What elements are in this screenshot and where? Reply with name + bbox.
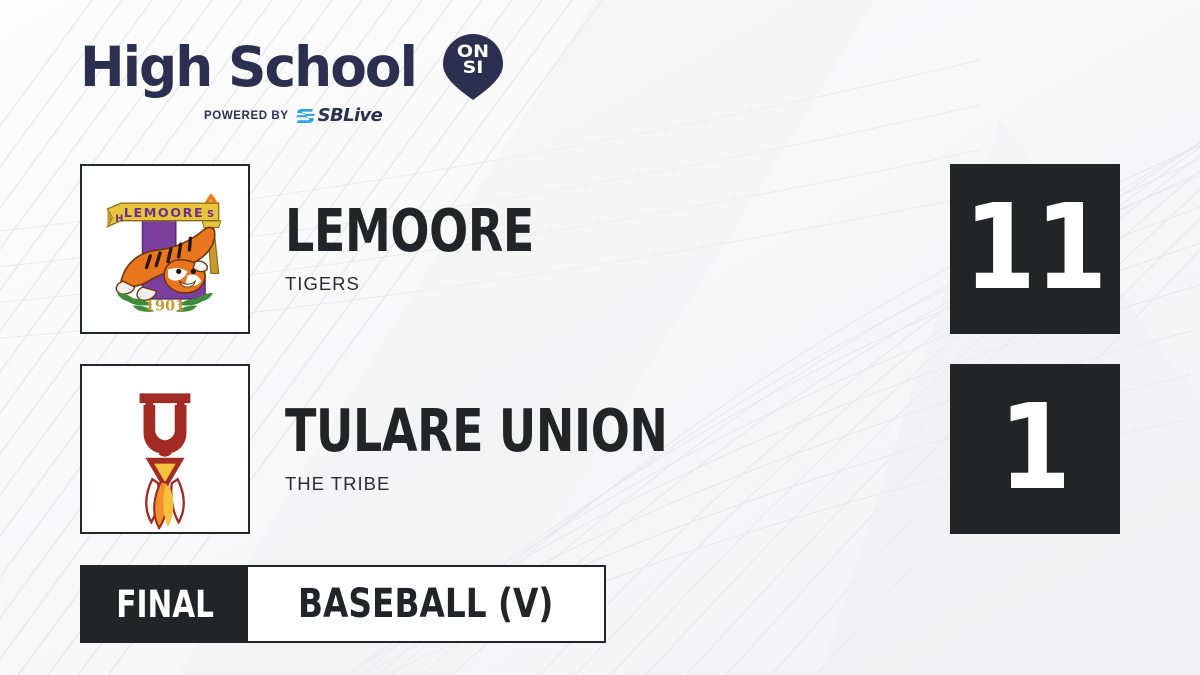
- brand-lockup: High School ON SI POWERED BY SBLive: [80, 33, 504, 125]
- team-score-box-lemoore: 11: [950, 164, 1120, 334]
- status-badge: FINAL: [82, 567, 248, 641]
- sblive-logo: SBLive: [296, 107, 383, 125]
- team-score-box-tulare-union: 1: [950, 364, 1120, 534]
- powered-by-label: POWERED BY: [204, 110, 289, 122]
- lemoore-tigers-logo-icon: LEMOORE H S: [82, 166, 248, 332]
- on-si-pin-label: ON SI: [439, 44, 508, 76]
- game-status-bar: FINAL BASEBALL (V): [80, 565, 606, 643]
- team-mascot: THE TRIBE: [285, 473, 775, 495]
- team-info-tulare-union: TULARE UNION THE TRIBE: [285, 364, 775, 534]
- status-badge-label: FINAL: [116, 586, 214, 623]
- page-title: High School: [80, 40, 416, 95]
- sport-label-box: BASEBALL (V): [248, 567, 603, 641]
- team-name: TULARE UNION: [285, 403, 668, 460]
- tulare-union-tribe-logo-icon: [82, 366, 248, 532]
- svg-text:1901: 1901: [145, 298, 186, 315]
- team-score: 11: [964, 188, 1107, 306]
- svg-text:H: H: [115, 214, 123, 225]
- team-logo-box-lemoore: LEMOORE H S: [80, 164, 250, 334]
- team-logo-box-tulare-union: [80, 364, 250, 534]
- scoreboard-graphic: High School ON SI POWERED BY SBLive: [0, 0, 1200, 675]
- sblive-s-icon: [296, 108, 315, 124]
- team-score: 1: [999, 388, 1070, 506]
- svg-text:S: S: [207, 209, 214, 220]
- team-name: LEMOORE: [285, 203, 534, 260]
- on-si-pin-icon: ON SI: [442, 33, 504, 101]
- team-info-lemoore: LEMOORE TIGERS: [285, 164, 604, 334]
- svg-text:LEMOORE: LEMOORE: [124, 205, 204, 220]
- sblive-wordmark: SBLive: [318, 107, 383, 125]
- powered-by-lockup: POWERED BY SBLive: [204, 107, 504, 125]
- pin-line-si: SI: [439, 60, 508, 76]
- team-mascot: TIGERS: [285, 273, 604, 295]
- sport-label: BASEBALL (V): [298, 584, 553, 624]
